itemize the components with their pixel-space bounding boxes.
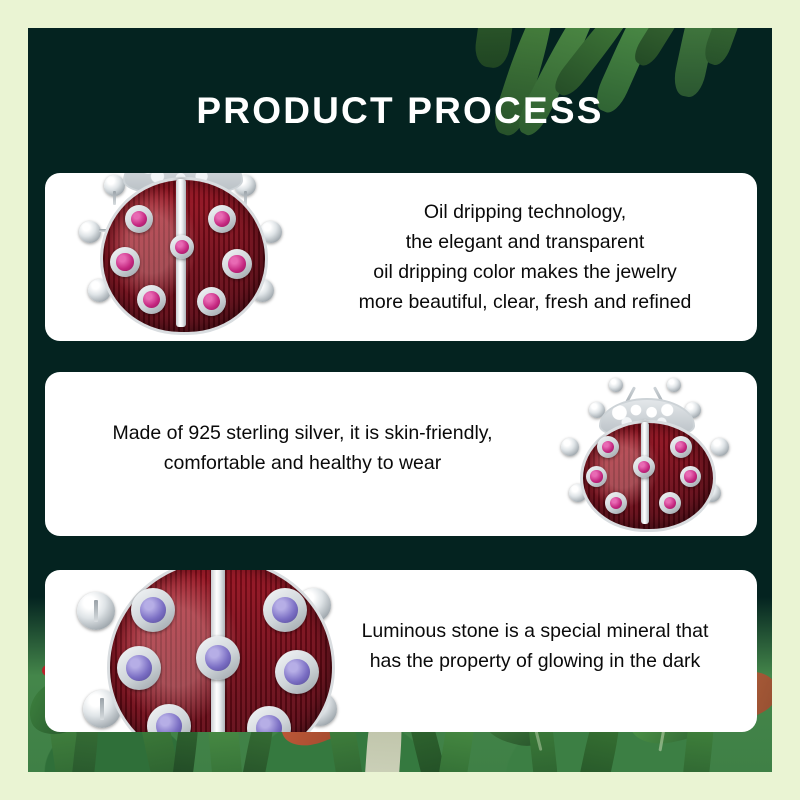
ladybug-leg-pin [100, 698, 104, 720]
ladybug-spot [670, 436, 692, 458]
ladybug-spot [659, 492, 681, 514]
ladybug-charm-full-view [553, 380, 738, 532]
infographic-frame: PRODUCT PROCESS [0, 0, 800, 800]
ladybug-spot [633, 456, 655, 478]
ladybug-leg-pin [113, 191, 116, 205]
ladybug-spot [196, 636, 240, 680]
process-card-oil-dripping: Oil dripping technology, the elegant and… [45, 173, 757, 341]
ladybug-spot [680, 466, 701, 487]
ladybug-spot [263, 588, 307, 632]
ladybug-antenna-ball [667, 378, 681, 392]
ladybug-spot [597, 436, 619, 458]
card-line: has the property of glowing in the dark [315, 646, 755, 676]
ladybug-leg-pin [94, 600, 98, 622]
card-text-luminous-stone: Luminous stone is a special mineral that… [315, 616, 755, 676]
card-line: comfortable and healthy to wear [55, 448, 550, 478]
card-text-sterling-silver: Made of 925 sterling silver, it is skin-… [55, 418, 550, 478]
ladybug-antenna-ball [609, 378, 623, 392]
leaf-blade [700, 28, 767, 68]
card-line: more beautiful, clear, fresh and refined [300, 287, 750, 317]
card-line: Luminous stone is a special mineral that [315, 616, 755, 646]
process-card-sterling-silver: Made of 925 sterling silver, it is skin-… [45, 372, 757, 536]
card-line: Made of 925 sterling silver, it is skin-… [55, 418, 550, 448]
ladybug-spot [137, 285, 166, 314]
ladybug-spot [208, 205, 236, 233]
ladybug-spot [197, 287, 226, 316]
ladybug-leg [561, 438, 579, 456]
ladybug-spot [586, 466, 607, 487]
ladybug-leg [79, 221, 101, 243]
page-title: PRODUCT PROCESS [28, 90, 772, 132]
ladybug-spot [125, 205, 153, 233]
card-line: the elegant and transparent [300, 227, 750, 257]
ladybug-charm-magenta-spots [75, 173, 285, 341]
ladybug-spot [110, 247, 140, 277]
ladybug-spot [170, 235, 194, 259]
ladybug-spot [117, 646, 161, 690]
process-card-luminous-stone: Luminous stone is a special mineral that… [45, 570, 757, 732]
card-line: Oil dripping technology, [300, 197, 750, 227]
ladybug-spot [222, 249, 252, 279]
ladybug-spot [131, 588, 175, 632]
card-line: oil dripping color makes the jewelry [300, 257, 750, 287]
dark-panel: PRODUCT PROCESS [28, 28, 772, 772]
ladybug-leg [711, 438, 729, 456]
ladybug-spot [275, 650, 319, 694]
card-text-oil-dripping: Oil dripping technology, the elegant and… [300, 197, 750, 317]
ladybug-spot [605, 492, 627, 514]
